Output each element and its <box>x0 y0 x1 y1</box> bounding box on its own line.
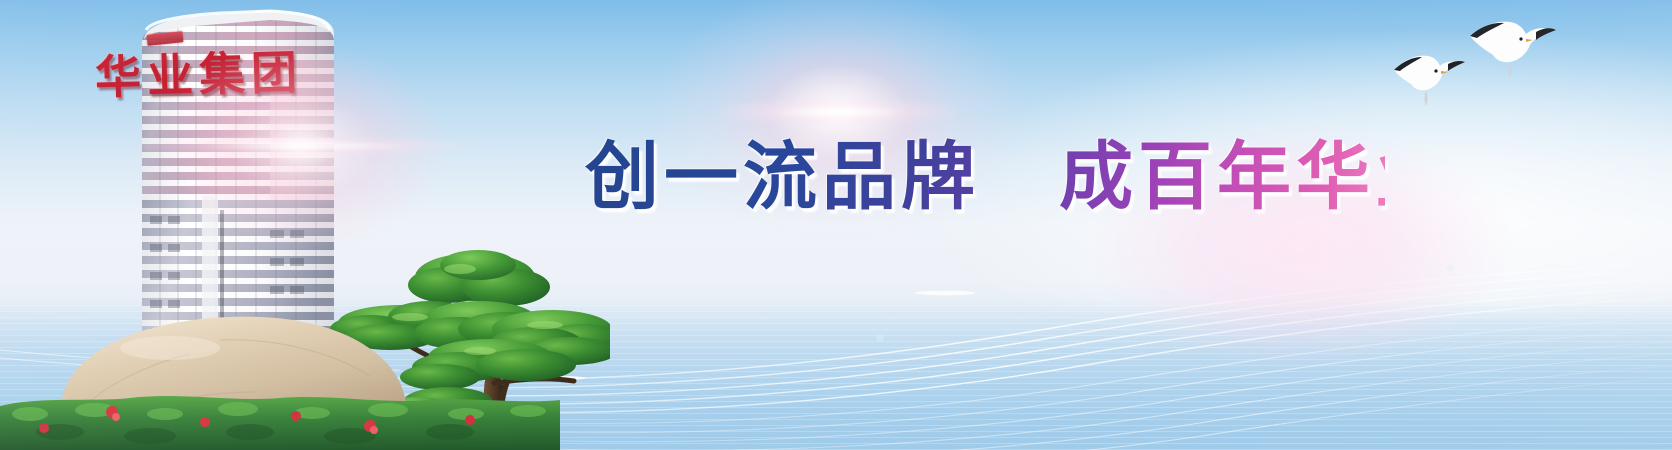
green-hedge <box>0 392 560 450</box>
hero-banner: 华业集团 <box>0 0 1672 450</box>
seagull-icon <box>1470 22 1556 78</box>
seagulls-group <box>1370 8 1570 118</box>
rock-inscription: 华业集团 <box>94 34 366 107</box>
banner-slogan: 创一流品牌 成百年华业 <box>585 133 1385 220</box>
seagull-icon <box>1394 56 1465 106</box>
